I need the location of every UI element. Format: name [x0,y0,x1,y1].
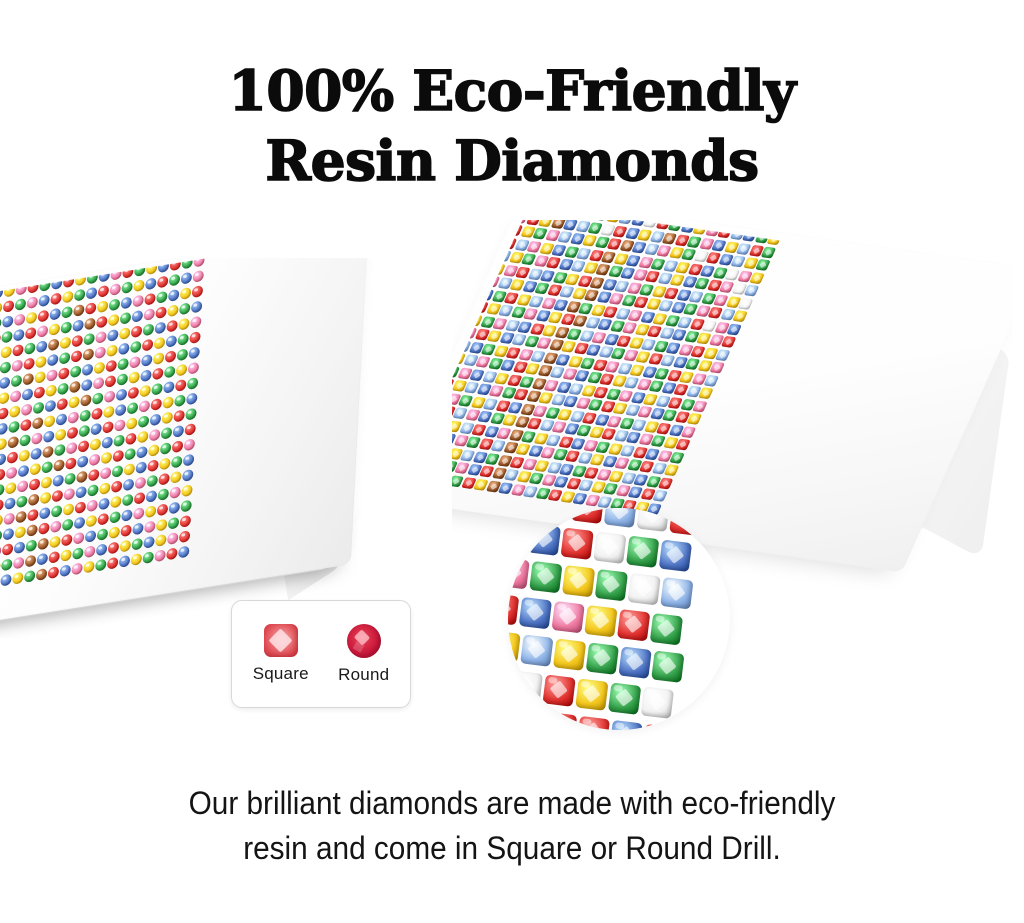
round-drill [160,442,171,455]
round-drill [0,514,3,527]
round-drill [143,536,154,549]
round-drill [17,480,28,493]
round-drill [124,463,135,476]
round-drill [26,524,37,537]
magnified-square-drill [577,716,610,730]
round-drill [159,457,170,470]
round-drill [182,469,193,482]
square-drill [664,464,680,476]
round-drill [162,396,173,409]
round-drill [59,352,70,365]
round-drill [143,323,154,336]
round-drill [75,486,86,499]
round-drill [83,348,94,361]
round-drill [147,475,158,488]
round-drill [90,438,101,451]
magnified-square-drill [627,573,660,605]
round-drill [19,449,30,462]
magnified-drill-closeup [508,508,730,730]
round-drill [115,404,126,417]
round-drill [128,371,139,384]
round-drill [65,457,76,470]
round-drill [91,407,102,420]
round-drill [187,377,198,390]
round-drill [0,302,2,315]
square-drill [755,259,771,271]
round-drill [6,466,17,479]
round-drill [95,559,106,572]
round-drill [106,344,117,357]
round-drill [36,340,47,353]
round-drill [40,491,51,504]
round-drill [181,484,192,497]
round-drill [33,401,44,414]
round-drill [180,500,191,513]
round-drill [73,304,84,317]
round-drill [30,463,41,476]
round-drill [64,488,75,501]
round-drill [162,411,173,424]
round-drill [52,474,63,487]
round-drill [152,367,163,380]
square-drill [727,323,743,335]
round-drill [0,468,5,481]
round-drill [149,429,160,442]
round-drill [129,356,140,369]
magnified-square-drill [604,508,637,528]
round-drill [16,495,27,508]
round-drill [27,509,38,522]
round-drill [74,289,85,302]
magnified-square-drill [669,508,702,536]
square-drill [761,246,777,258]
round-drill [121,509,132,522]
page-title: 100% Eco-Friendly Resin Diamonds [0,56,1024,196]
round-drill [169,486,180,499]
round-drill [134,492,145,505]
round-drill [0,484,5,497]
round-drill [146,490,157,503]
round-drill [107,329,118,342]
round-drill [15,526,26,539]
round-drill [181,272,192,285]
legend-items: Square Round [232,601,410,707]
round-drill [56,413,67,426]
round-drill [34,386,45,399]
round-drill [112,465,123,478]
magnified-square-drill [595,569,628,601]
round-drill [28,493,39,506]
magnified-square-drill [575,678,608,710]
round-drill [186,392,197,405]
magnified-square-drill [636,508,669,532]
magnified-square-drill [508,704,512,730]
square-drill [698,387,714,399]
magnified-square-drill [659,540,692,572]
round-drill [49,536,60,549]
square-drill [732,310,748,322]
round-drill [125,432,136,445]
round-drill [46,369,57,382]
round-drill [106,360,117,373]
round-drill [147,459,158,472]
magnified-square-drill [529,561,562,593]
square-drill [687,413,703,425]
round-drill [61,306,72,319]
round-drill [87,484,98,497]
magnified-square-drill [508,519,528,551]
round-drill [0,392,9,405]
round-drill [97,513,108,526]
magnified-square-drill [586,642,619,674]
round-drill [80,394,91,407]
round-drill [0,376,10,389]
round-drill [74,516,85,529]
round-drill [61,321,72,334]
round-drill [84,317,95,330]
round-drill [126,417,137,430]
round-drill [58,367,69,380]
round-drill [50,520,61,533]
round-drill [23,373,34,386]
round-drill [12,344,23,357]
round-drill [117,358,128,371]
round-drill [30,447,41,460]
round-drill [48,338,59,351]
round-drill [163,381,174,394]
round-drill [82,363,93,376]
round-drill [21,403,32,416]
round-drill [124,448,135,461]
round-drill [193,258,204,267]
round-drill [117,373,128,386]
round-drill [105,375,116,388]
round-drill [72,319,83,332]
round-drill [192,285,203,298]
round-drill [68,396,79,409]
headline-line-1: 100% Eco-Friendly [0,56,1024,126]
round-drill [120,524,131,537]
round-drill [173,410,184,423]
square-drill [675,439,691,451]
round-drill [102,421,113,434]
round-drill [63,503,74,516]
round-drill [50,292,61,305]
round-drill [41,476,52,489]
magnified-square-drill [561,528,594,560]
round-drill [47,354,58,367]
round-drill [14,313,25,326]
round-drill [145,277,156,290]
round-drill [113,450,124,463]
round-drill [131,553,142,566]
round-drill [139,385,150,398]
round-drill [32,417,43,430]
round-drill [135,461,146,474]
round-drill [81,379,92,392]
round-drill [143,308,154,321]
round-drill [97,300,108,313]
product-caption: Our brilliant diamonds are made with eco… [36,781,988,871]
round-drill [44,415,55,428]
magnified-square-drill [508,593,519,625]
round-drill [189,331,200,344]
round-drill [49,308,60,321]
round-drill [27,296,38,309]
round-drill [151,398,162,411]
square-drill-facet [269,628,293,652]
round-drill [0,438,7,451]
round-drill [1,558,12,571]
round-drill [0,407,9,420]
magnified-square-drill [608,682,641,714]
round-drill [154,337,165,350]
magnified-square-drill [626,536,659,568]
round-drill [144,520,155,533]
legend-label-round: Round [338,665,389,685]
legend-item-round[interactable]: Round [338,624,389,685]
round-drill [11,359,22,372]
square-drill [738,297,754,309]
round-drill [26,539,37,552]
round-drill [56,398,67,411]
round-drill [76,470,87,483]
round-drill [96,543,107,556]
round-drill [132,310,143,323]
round-drill [180,515,191,528]
round-drill [10,390,21,403]
round-drill [7,451,18,464]
round-drill [155,534,166,547]
magnified-square-drill [520,634,553,666]
round-drill [178,318,189,331]
round-drill [37,325,48,338]
square-drill [658,477,674,489]
square-drill [709,362,725,374]
magnified-square-drill [508,630,521,662]
round-drill [166,320,177,333]
round-drill [75,501,86,514]
round-drill [164,365,175,378]
round-drill [13,329,24,342]
round-drill [122,494,133,507]
round-drill [37,537,48,550]
round-drill [15,298,26,311]
round-drill [184,423,195,436]
round-drill [155,321,166,334]
round-drill [141,354,152,367]
round-drill [188,362,199,375]
square-drill [744,285,760,297]
round-drill [151,383,162,396]
round-drill [171,455,182,468]
round-drill [23,357,34,370]
round-drill [180,287,191,300]
round-drill [156,519,167,532]
round-drill [14,541,25,554]
round-drill [167,304,178,317]
round-drill [121,296,132,309]
round-drill [36,568,47,581]
round-drill [179,530,190,543]
round-drill [60,336,71,349]
round-drill [71,350,82,363]
magnified-square-drill [584,605,617,637]
round-drill [52,490,63,503]
round-drill [139,400,150,413]
round-drill [185,408,196,421]
round-drill [0,453,6,466]
round-drill [104,390,115,403]
round-drill [61,534,72,547]
product-banner: 100% Eco-Friendly Resin Diamonds [0,0,1024,923]
round-drill [38,310,49,323]
round-drill [48,551,59,564]
legend-item-square[interactable]: Square [253,624,309,684]
round-drill [85,302,96,315]
round-drill [96,315,107,328]
round-drill [172,440,183,453]
round-drill [154,549,165,562]
round-drill [68,411,79,424]
round-drill [98,497,109,510]
magnified-square-drill [528,523,561,555]
round-drill [161,427,172,440]
magnified-square-drill [508,557,530,589]
round-drill [183,454,194,467]
round-drill [132,522,143,535]
round-drill [102,436,113,449]
round-drill [127,402,138,415]
round-drill [42,445,53,458]
round-drill [53,459,64,472]
round-drill [179,302,190,315]
round-drill [57,382,68,395]
round-drill [26,311,37,324]
round-drill [72,547,83,560]
round-drill [69,380,80,393]
magnified-square-drill [641,686,674,718]
round-drill [20,419,31,432]
round-drill [25,555,36,568]
round-drill [35,355,46,368]
round-drill [175,379,186,392]
magnified-square-drill [562,565,595,597]
square-drill [669,451,685,463]
tray-round-drills [0,258,386,638]
round-drill [66,442,77,455]
round-drill [2,543,13,556]
round-drill [150,413,161,426]
round-drill [121,281,132,294]
round-drill [93,377,104,390]
round-drill [85,530,96,543]
square-drill [715,349,731,361]
round-drill [86,515,97,528]
round-drill [145,505,156,518]
magnified-square-drill [538,508,571,520]
round-drill [99,482,110,495]
round-drill [176,364,187,377]
round-drill [70,365,81,378]
round-drill [64,472,75,485]
round-drill [48,566,59,579]
round-drill [130,340,141,353]
round-drill [11,375,22,388]
round-drill [137,430,148,443]
round-drill [5,482,16,495]
round-drill [167,532,178,545]
magnified-square-drill [571,508,604,524]
round-drill [155,306,166,319]
magnified-square-drill [508,508,539,516]
round-drill [13,556,24,569]
magnified-square-drill [544,712,577,730]
round-drill [2,315,13,328]
round-drill [101,451,112,464]
square-drill [721,336,737,348]
round-drill [133,279,144,292]
round-drill [86,499,97,512]
round-drill [156,291,167,304]
round-drill [83,333,94,346]
round-drill [114,419,125,432]
round-drill [0,422,8,435]
round-drill [39,507,50,520]
round-drill [142,551,153,564]
round-drill [192,270,203,283]
round-drill [71,562,82,575]
round-drill [19,434,30,447]
round-drill [67,426,78,439]
round-drill [177,348,188,361]
round-drill [78,440,89,453]
square-drill-icon [264,624,298,657]
round-drill [168,289,179,302]
round-drill [18,465,29,478]
round-drill [37,553,48,566]
round-drill [72,335,83,348]
round-drill [165,350,176,363]
round-drill [109,511,120,524]
round-drill [128,386,139,399]
square-drill [652,490,668,502]
round-drill [45,384,56,397]
square-drill [681,426,697,438]
round-drill [138,415,149,428]
magnified-square-drill [651,650,684,682]
round-drill [136,446,147,459]
round-drill [131,538,142,551]
magnified-square-drill [519,597,552,629]
round-drill [166,335,177,348]
round-drill [3,512,14,525]
magnified-square-drill [542,674,575,706]
round-drill [79,409,90,422]
round-drill [24,570,35,583]
round-drill [120,312,131,325]
round-drill [12,572,23,585]
round-drill [51,505,62,518]
magnified-square-drill [650,613,683,645]
round-drill [169,274,180,287]
round-drill [108,314,119,327]
tray-body [0,258,386,638]
round-drill [22,388,33,401]
caption-line-2: resin and come in Square or Round Drill. [36,826,988,871]
drill-shape-legend: Square Round [231,600,411,708]
round-drill [86,287,97,300]
